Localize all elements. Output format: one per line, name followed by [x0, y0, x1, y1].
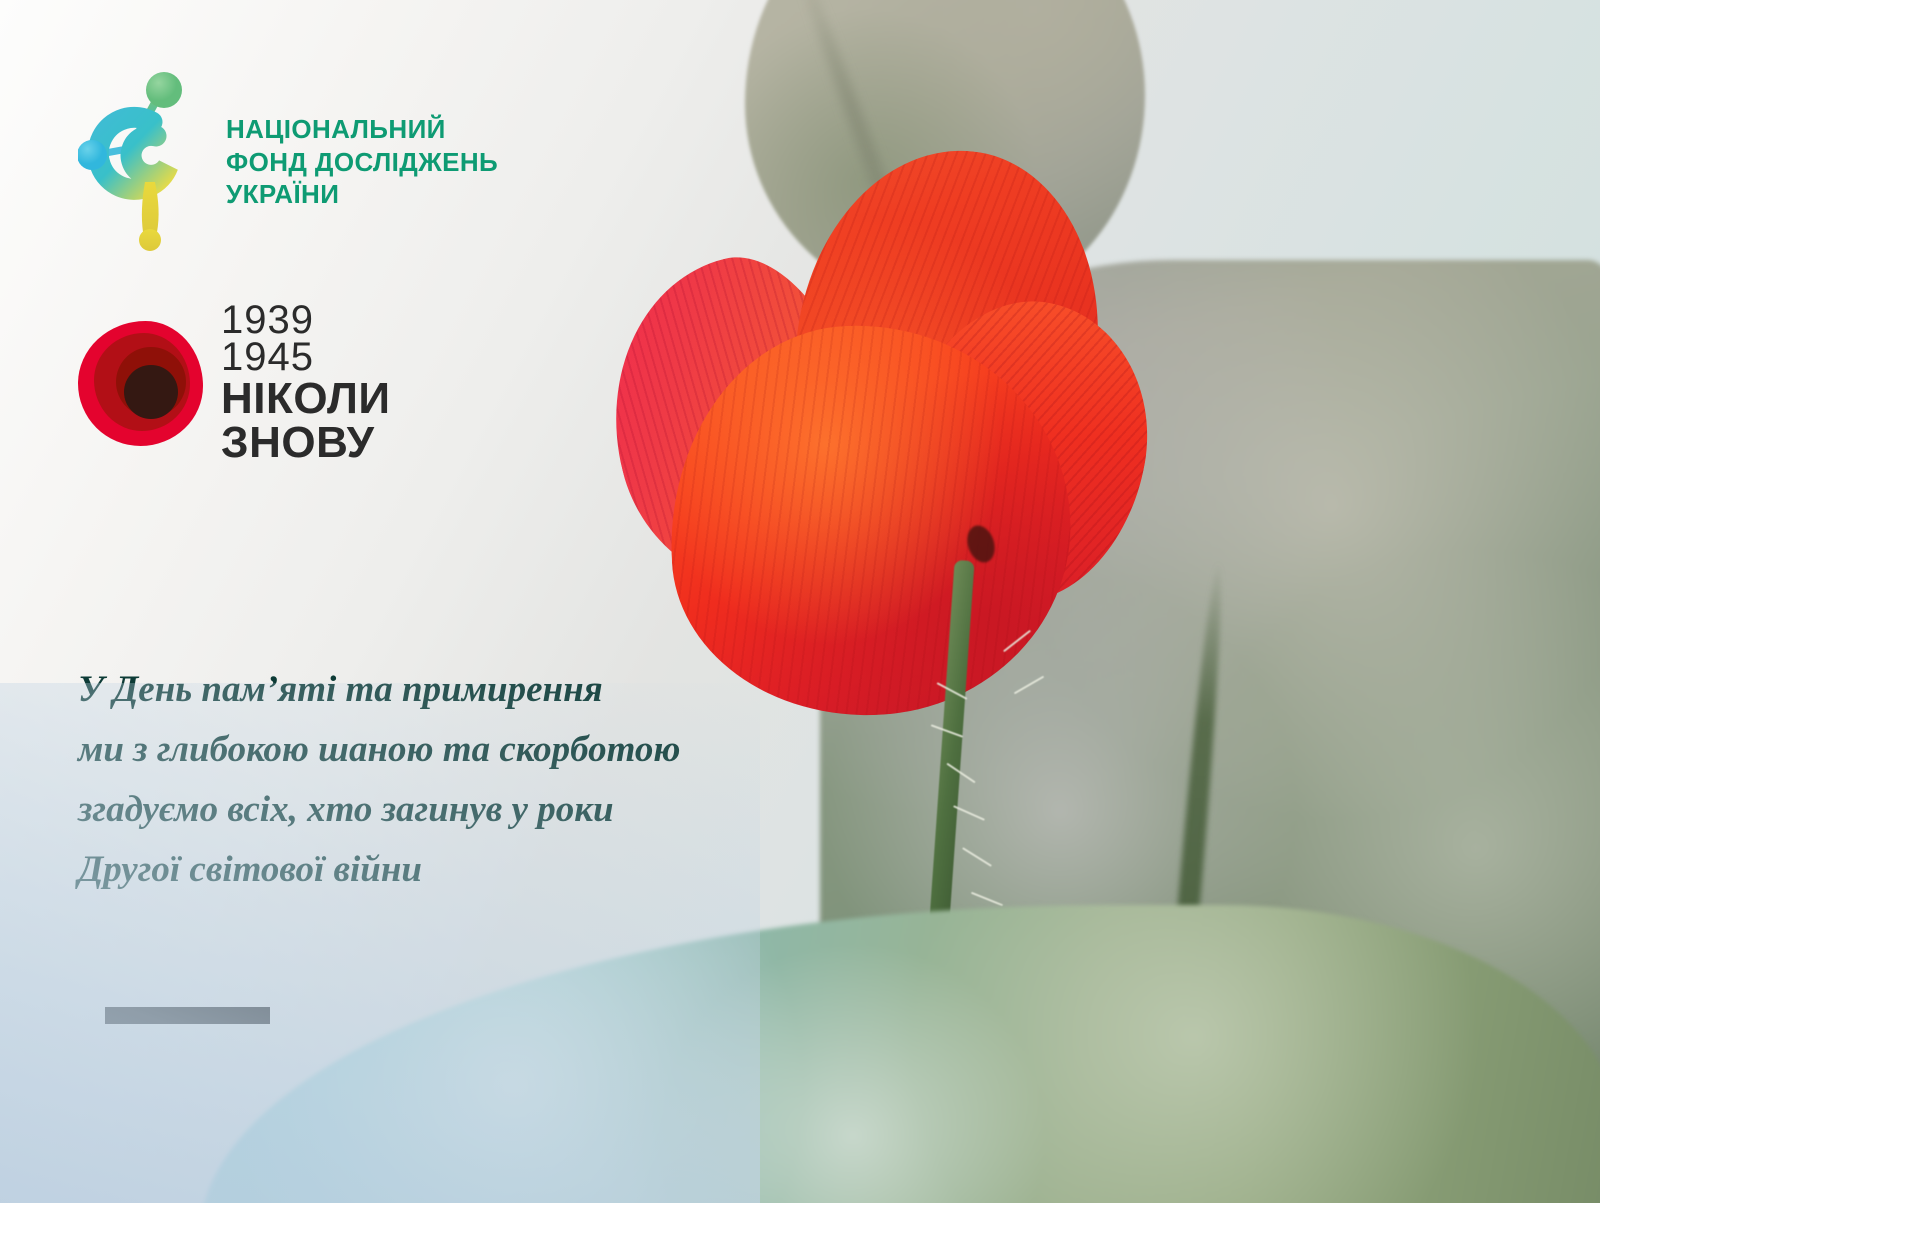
photo-wave-band: [200, 905, 1600, 1203]
memorial-text-block: 1939 1945 НІКОЛИ ЗНОВУ: [221, 302, 390, 464]
accent-rule: [105, 1007, 270, 1024]
memorial-message: У День пам’яті та примирення ми з глибок…: [78, 660, 798, 900]
nrfu-logo-text: НАЦІОНАЛЬНИЙ ФОНД ДОСЛІДЖЕНЬ УКРАЇНИ: [226, 113, 498, 211]
nrfu-logo[interactable]: НАЦІОНАЛЬНИЙ ФОНД ДОСЛІДЖЕНЬ УКРАЇНИ: [78, 62, 498, 262]
memorial-year-to: 1945: [221, 339, 390, 376]
memorial-poster: НАЦІОНАЛЬНИЙ ФОНД ДОСЛІДЖЕНЬ УКРАЇНИ 193…: [0, 0, 1600, 1203]
poppy-flower-photo: [610, 150, 1130, 710]
memorial-slogan-line-2: ЗНОВУ: [221, 422, 390, 464]
message-line-3: згадуємо всіх, хто загинув у роки: [78, 780, 798, 840]
memorial-slogan-line-1: НІКОЛИ: [221, 378, 390, 420]
message-line-4: Другої світової війни: [78, 840, 798, 900]
poppy-ring-core: [124, 365, 178, 419]
nrfu-molecule-icon: [78, 62, 206, 262]
memorial-year-from: 1939: [221, 302, 390, 339]
message-line-2: ми з глибокою шаною та скорботою: [78, 720, 798, 780]
memorial-emblem[interactable]: 1939 1945 НІКОЛИ ЗНОВУ: [78, 302, 390, 464]
message-line-1: У День пам’яті та примирення: [78, 660, 798, 720]
memorial-poppy-icon: [78, 321, 203, 446]
